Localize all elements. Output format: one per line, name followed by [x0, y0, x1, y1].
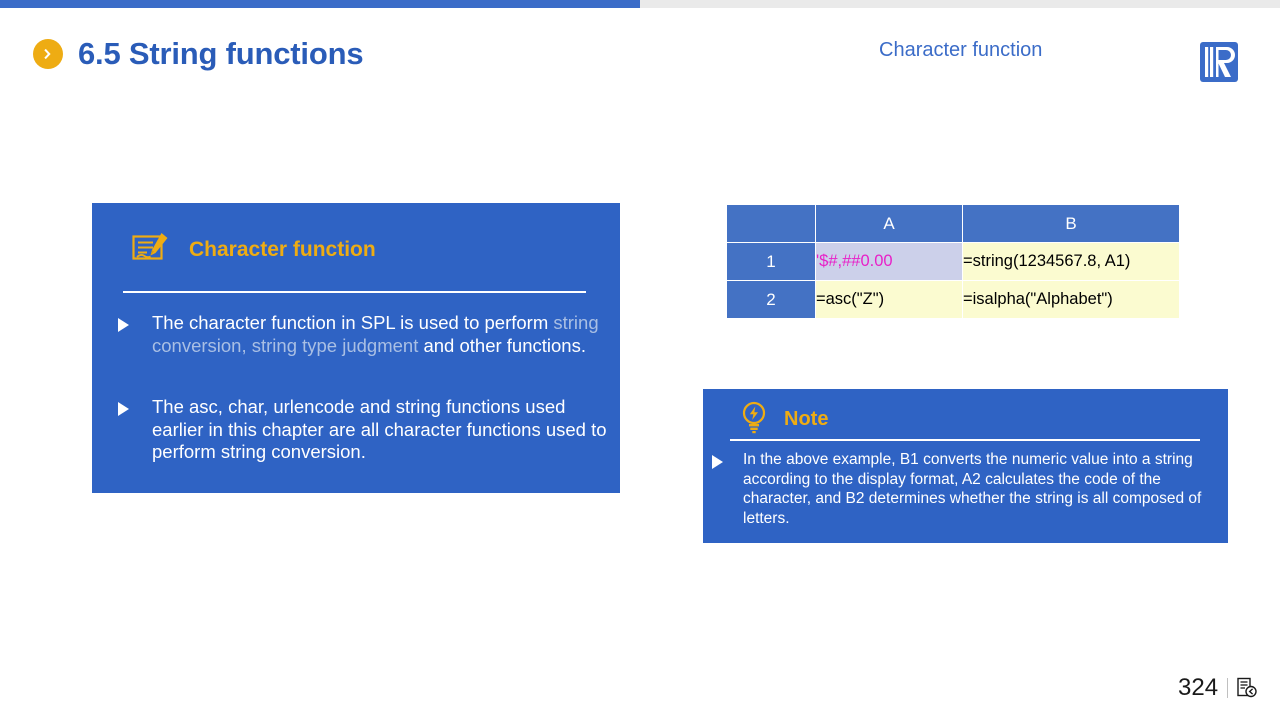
card-divider [123, 291, 586, 293]
table-row: 2 =asc("Z") =isalpha("Alphabet") [727, 281, 1179, 318]
column-header-a[interactable]: A [816, 205, 962, 242]
table-row: 1 '$#,##0.00 =string(1234567.8, A1) [727, 243, 1179, 280]
column-header-b[interactable]: B [963, 205, 1179, 242]
footer-divider [1227, 678, 1228, 698]
chevron-right-circle-icon [33, 39, 63, 69]
note-heading-group: Note [739, 400, 828, 439]
cell-a2[interactable]: =asc("Z") [816, 281, 962, 318]
title-group: 6.5 String functions [33, 36, 363, 72]
note-divider [730, 439, 1200, 441]
cell-b1[interactable]: =string(1234567.8, A1) [963, 243, 1179, 280]
row-header-2[interactable]: 2 [727, 281, 815, 318]
cell-b2[interactable]: =isalpha("Alphabet") [963, 281, 1179, 318]
triangle-right-icon [118, 318, 129, 332]
table-header-row: A B [727, 205, 1179, 242]
list-item: The character function in SPL is used to… [118, 312, 618, 357]
bullet-2-text: The asc, char, urlencode and string func… [152, 396, 618, 464]
table-corner-cell [727, 205, 815, 242]
note-heading-label: Note [784, 408, 828, 431]
row-header-1[interactable]: 1 [727, 243, 815, 280]
note-pencil-icon [131, 230, 171, 269]
page-number: 324 [1178, 676, 1218, 700]
top-bar-blue-segment [0, 0, 640, 8]
list-item: The asc, char, urlencode and string func… [118, 396, 618, 464]
slide-footer: 324 [1178, 676, 1257, 700]
triangle-right-icon [712, 455, 723, 469]
document-back-icon[interactable] [1237, 677, 1257, 699]
top-bar-grey-segment [640, 0, 1280, 8]
triangle-right-icon [118, 402, 129, 416]
header-subject-label: Character function [879, 39, 1042, 62]
spl-code-table: A B 1 '$#,##0.00 =string(1234567.8, A1) … [726, 204, 1180, 319]
note-body-text: In the above example, B1 converts the nu… [743, 450, 1222, 528]
brand-logo-icon [1196, 39, 1242, 85]
cell-a1[interactable]: '$#,##0.00 [816, 243, 962, 280]
top-accent-bar [0, 0, 1280, 8]
bullet-1-part-2: and other functions. [418, 335, 586, 356]
bullet-1-part-0: The character function in SPL is used to… [152, 312, 553, 333]
bullet-1-text: The character function in SPL is used to… [152, 312, 618, 357]
lightbulb-idea-icon [739, 400, 769, 439]
card-heading-label: Character function [189, 238, 376, 262]
slide-header: 6.5 String functions Character function [0, 8, 1280, 98]
page-title: 6.5 String functions [78, 36, 363, 72]
note-body-item: In the above example, B1 converts the nu… [712, 450, 1222, 528]
card-heading-group: Character function [131, 230, 376, 269]
